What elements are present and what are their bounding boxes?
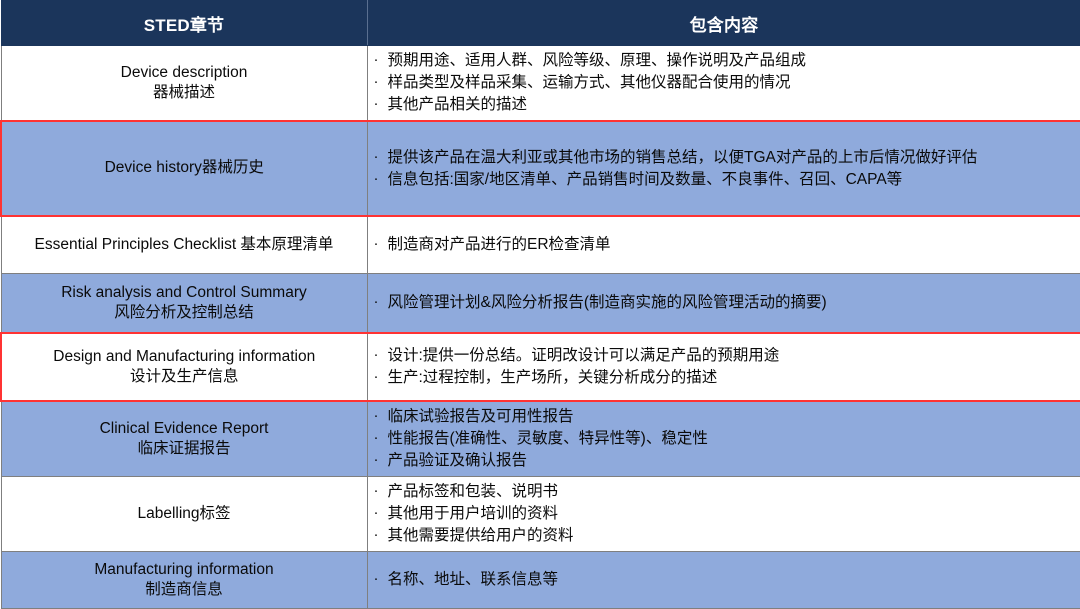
table-row: Clinical Evidence Report临床证据报告临床试验报告及可用性…: [1, 401, 1080, 477]
section-name-cn: 制造商信息: [10, 580, 359, 600]
section-name-en: Manufacturing information: [10, 560, 359, 580]
section-name-en: Labelling标签: [10, 504, 359, 524]
section-cell: Essential Principles Checklist 基本原理清单: [1, 216, 367, 273]
content-bullet-item: 提供该产品在温大利亚或其他市场的销售总结，以便TGA对产品的上市后情况做好评估: [372, 147, 1079, 169]
content-bullet-item: 制造商对产品进行的ER检查清单: [372, 234, 1079, 256]
content-cell: 临床试验报告及可用性报告性能报告(准确性、灵敏度、特异性等)、稳定性产品验证及确…: [367, 401, 1080, 477]
content-bullet-item: 设计:提供一份总结。证明改设计可以满足产品的预期用途: [372, 345, 1079, 367]
content-bullet-item: 名称、地址、联系信息等: [372, 569, 1079, 591]
content-cell: 提供该产品在温大利亚或其他市场的销售总结，以便TGA对产品的上市后情况做好评估信…: [367, 121, 1080, 216]
content-bullet-item: 其他需要提供给用户的资料: [372, 525, 1079, 547]
section-cell: Manufacturing information制造商信息: [1, 552, 367, 609]
table-head: STED章节 包含内容: [1, 1, 1080, 46]
content-cell: 名称、地址、联系信息等: [367, 552, 1080, 609]
content-bullet-item: 其他产品相关的描述: [372, 94, 1079, 116]
section-cell: Device history器械历史: [1, 121, 367, 216]
content-cell: 制造商对产品进行的ER检查清单: [367, 216, 1080, 273]
table-row: Manufacturing information制造商信息名称、地址、联系信息…: [1, 552, 1080, 609]
table-row: Design and Manufacturing information设计及生…: [1, 333, 1080, 401]
content-bullet-item: 其他用于用户培训的资料: [372, 503, 1079, 525]
section-name-cn: 临床证据报告: [10, 439, 359, 459]
content-bullet-list: 名称、地址、联系信息等: [372, 569, 1079, 591]
content-cell: 产品标签和包装、说明书其他用于用户培训的资料其他需要提供给用户的资料: [367, 477, 1080, 552]
content-bullet-item: 信息包括:国家/地区清单、产品销售时间及数量、不良事件、召回、CAPA等: [372, 169, 1079, 191]
content-bullet-list: 临床试验报告及可用性报告性能报告(准确性、灵敏度、特异性等)、稳定性产品验证及确…: [372, 406, 1079, 472]
section-name-cn: 设计及生产信息: [10, 367, 359, 387]
table-row: Device history器械历史提供该产品在温大利亚或其他市场的销售总结，以…: [1, 121, 1080, 216]
section-name-en: Design and Manufacturing information: [10, 347, 359, 367]
section-name-en: Essential Principles Checklist 基本原理清单: [10, 235, 359, 255]
content-bullet-list: 风险管理计划&风险分析报告(制造商实施的风险管理活动的摘要): [372, 292, 1079, 314]
content-bullet-list: 提供该产品在温大利亚或其他市场的销售总结，以便TGA对产品的上市后情况做好评估信…: [372, 147, 1079, 191]
table-row: Essential Principles Checklist 基本原理清单制造商…: [1, 216, 1080, 273]
table-header-row: STED章节 包含内容: [1, 1, 1080, 46]
sted-sections-table: STED章节 包含内容 Device description器械描述预期用途、适…: [0, 0, 1080, 609]
content-bullet-list: 产品标签和包装、说明书其他用于用户培训的资料其他需要提供给用户的资料: [372, 481, 1079, 547]
content-bullet-item: 产品标签和包装、说明书: [372, 481, 1079, 503]
section-name-en: Risk analysis and Control Summary: [10, 283, 359, 303]
table-row: Labelling标签产品标签和包装、说明书其他用于用户培训的资料其他需要提供给…: [1, 477, 1080, 552]
content-cell: 设计:提供一份总结。证明改设计可以满足产品的预期用途生产:过程控制，生产场所，关…: [367, 333, 1080, 401]
section-name-cn: 风险分析及控制总结: [10, 303, 359, 323]
table-row: Device description器械描述预期用途、适用人群、风险等级、原理、…: [1, 46, 1080, 122]
section-cell: Clinical Evidence Report临床证据报告: [1, 401, 367, 477]
content-bullet-item: 产品验证及确认报告: [372, 450, 1079, 472]
sted-table-sheet: STED章节 包含内容 Device description器械描述预期用途、适…: [0, 0, 1080, 587]
section-cell: Design and Manufacturing information设计及生…: [1, 333, 367, 401]
column-header-content: 包含内容: [367, 1, 1080, 46]
section-cell: Risk analysis and Control Summary风险分析及控制…: [1, 273, 367, 333]
content-bullet-item: 生产:过程控制，生产场所，关键分析成分的描述: [372, 367, 1079, 389]
content-bullet-list: 设计:提供一份总结。证明改设计可以满足产品的预期用途生产:过程控制，生产场所，关…: [372, 345, 1079, 389]
content-bullet-item: 临床试验报告及可用性报告: [372, 406, 1079, 428]
section-name-cn: 器械描述: [10, 83, 359, 103]
table-body: Device description器械描述预期用途、适用人群、风险等级、原理、…: [1, 46, 1080, 609]
section-name-en: Device history器械历史: [10, 158, 359, 178]
content-cell: 风险管理计划&风险分析报告(制造商实施的风险管理活动的摘要): [367, 273, 1080, 333]
content-bullet-item: 风险管理计划&风险分析报告(制造商实施的风险管理活动的摘要): [372, 292, 1079, 314]
content-cell: 预期用途、适用人群、风险等级、原理、操作说明及产品组成样品类型及样品采集、运输方…: [367, 46, 1080, 122]
section-name-en: Clinical Evidence Report: [10, 419, 359, 439]
section-cell: Labelling标签: [1, 477, 367, 552]
content-bullet-list: 制造商对产品进行的ER检查清单: [372, 234, 1079, 256]
content-bullet-item: 预期用途、适用人群、风险等级、原理、操作说明及产品组成: [372, 50, 1079, 72]
column-header-section: STED章节: [1, 1, 367, 46]
content-bullet-item: 样品类型及样品采集、运输方式、其他仪器配合使用的情况: [372, 72, 1079, 94]
section-cell: Device description器械描述: [1, 46, 367, 122]
table-row: Risk analysis and Control Summary风险分析及控制…: [1, 273, 1080, 333]
content-bullet-list: 预期用途、适用人群、风险等级、原理、操作说明及产品组成样品类型及样品采集、运输方…: [372, 50, 1079, 116]
content-bullet-item: 性能报告(准确性、灵敏度、特异性等)、稳定性: [372, 428, 1079, 450]
section-name-en: Device description: [10, 63, 359, 83]
